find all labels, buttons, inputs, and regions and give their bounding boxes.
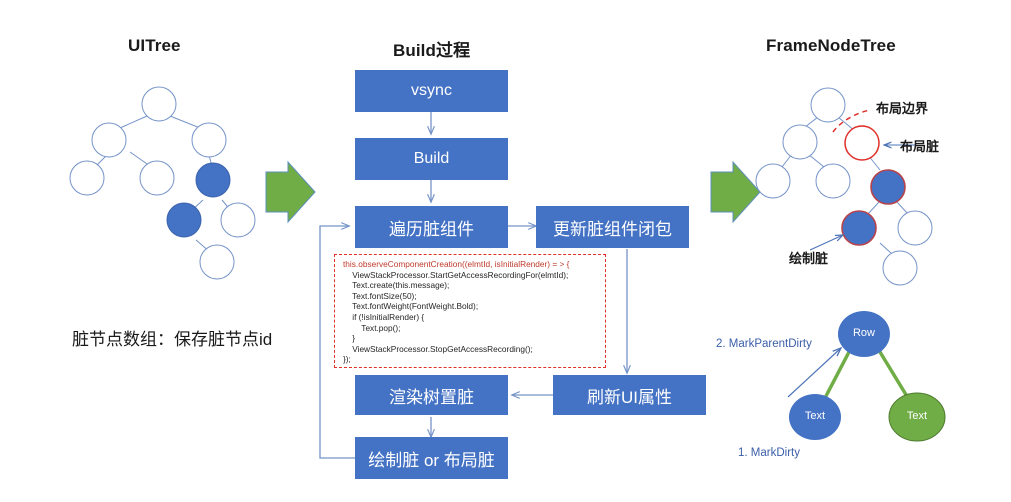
section-title-build: Build过程 [393, 36, 470, 61]
annotation-draw-dirty: 绘制脏 [789, 248, 828, 267]
dirty-demo-label-text-right: Text [892, 410, 942, 422]
frametree-node-l1a [783, 125, 817, 159]
frametree-node-draw-dirty-1 [871, 170, 905, 204]
frametree-nodes [756, 88, 932, 285]
code-line: if (!isInitialRender) { [343, 312, 599, 323]
code-line: Text.fontSize(50); [343, 291, 599, 302]
uitree-node-dirty-1 [196, 163, 230, 197]
flow-box-refresh-ui-prop[interactable]: 刷新UI属性 [553, 375, 706, 415]
step-label-mark-dirty: 1. MarkDirty [738, 447, 800, 459]
frametree-node-layout-dirty [845, 126, 879, 160]
section-title-frametree: FrameNodeTree [766, 36, 896, 56]
uitree-node-l4 [200, 245, 234, 279]
uitree-node-l1b [192, 123, 226, 157]
dirty-demo-edges [825, 352, 908, 398]
flow-box-traverse-dirty[interactable]: 遍历脏组件 [355, 206, 508, 248]
frametree-node-l2a [756, 164, 790, 198]
code-snippet-block: this.observeComponentCreation((elmtId, i… [334, 254, 606, 368]
code-line: ViewStackProcessor.StopGetAccessRecordin… [343, 344, 599, 355]
mark-parent-dirty-arrow [788, 348, 841, 397]
code-line: }); [343, 354, 599, 365]
frametree-node-root [811, 88, 845, 122]
code-line: Text.pop(); [343, 323, 599, 334]
code-line: this.observeComponentCreation((elmtId, i… [343, 259, 599, 270]
uitree-node-root [142, 87, 176, 121]
uitree-node-l3b [221, 203, 255, 237]
frametree-node-draw-dirty-2 [842, 211, 876, 245]
dirty-demo-label-row: Row [839, 327, 889, 339]
uitree-node-l2b [140, 161, 174, 195]
frametree-node-l3b [898, 211, 932, 245]
step-label-mark-parent-dirty: 2. MarkParentDirty [716, 338, 812, 350]
annotation-layout-boundary: 布局边界 [876, 98, 928, 117]
uitree-node-l1a [92, 123, 126, 157]
frametree-node-l4 [883, 251, 917, 285]
flow-box-update-dirty-closure[interactable]: 更新脏组件闭包 [536, 206, 689, 248]
code-line: ViewStackProcessor.StartGetAccessRecordi… [343, 270, 599, 281]
flow-box-draw-or-layout-dirty[interactable]: 绘制脏 or 布局脏 [355, 437, 508, 479]
flow-box-render-tree-dirty[interactable]: 渲染树置脏 [355, 375, 508, 415]
green-arrow-1 [266, 162, 315, 222]
frametree-node-l2b [816, 164, 850, 198]
diagram-canvas: UITree Build过程 FrameNodeTree 脏节点数组：保存脏节点… [0, 0, 1011, 502]
uitree-nodes [70, 87, 255, 279]
layout-boundary-dashed-arc [833, 110, 870, 132]
frametree-edges [782, 117, 908, 254]
annotation-layout-dirty: 布局脏 [900, 136, 939, 155]
dirty-demo-label-text-left: Text [790, 410, 840, 422]
code-line: Text.create(this.message); [343, 280, 599, 291]
uitree-edges [96, 116, 232, 252]
code-line: Text.fontWeight(FontWeight.Bold); [343, 301, 599, 312]
uitree-node-l2a [70, 161, 104, 195]
section-title-uitree: UITree [128, 36, 181, 56]
uitree-dirty-array-caption: 脏节点数组：保存脏节点id [72, 325, 272, 350]
flow-box-build[interactable]: Build [355, 138, 508, 180]
green-arrow-2 [711, 162, 760, 222]
uitree-node-dirty-2 [167, 203, 201, 237]
flow-box-vsync[interactable]: vsync [355, 70, 508, 112]
code-line: } [343, 333, 599, 344]
